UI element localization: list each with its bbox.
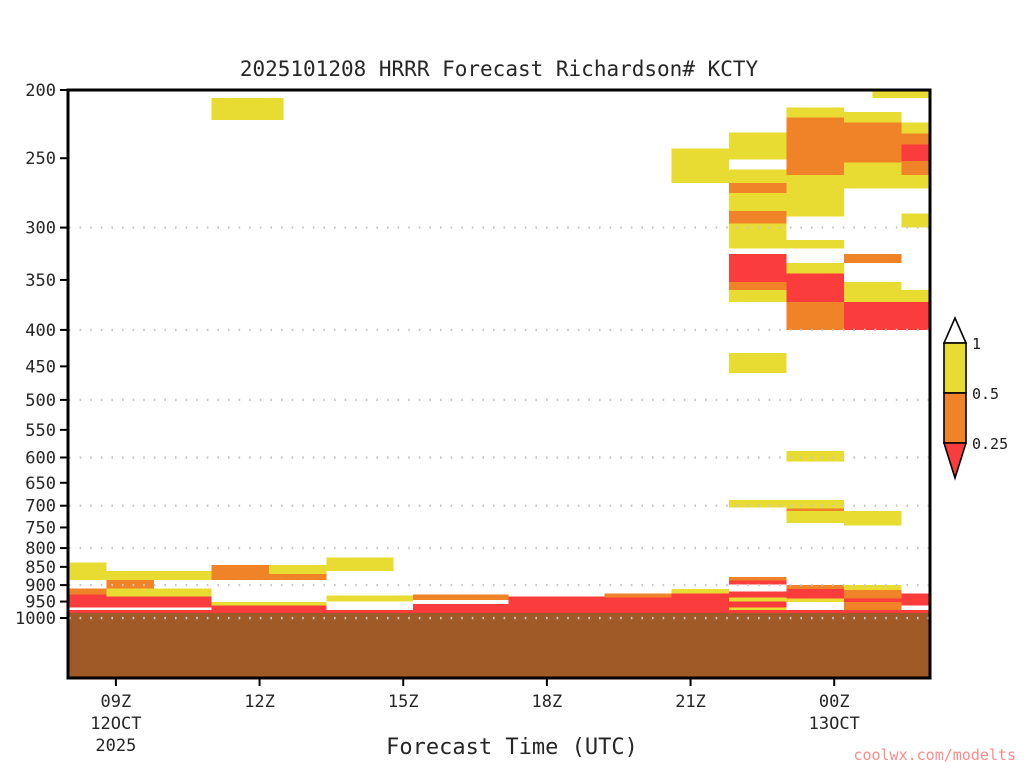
heatmap-cell bbox=[671, 589, 728, 593]
heatmap-cell bbox=[671, 598, 728, 610]
heatmap-cell bbox=[729, 240, 844, 248]
y-axis-tick-label: 500 bbox=[25, 391, 56, 411]
y-axis-tick-label: 1000 bbox=[15, 609, 56, 629]
heatmap-cell bbox=[729, 592, 786, 598]
heatmap-cell bbox=[786, 117, 843, 175]
heatmap-cell bbox=[844, 162, 901, 188]
heatmap-cell bbox=[604, 593, 671, 597]
heatmap-cell bbox=[786, 175, 843, 186]
x-axis-tick-label: 18Z bbox=[532, 692, 563, 712]
y-axis-tick-label: 450 bbox=[25, 357, 56, 377]
heatmap-cell bbox=[786, 108, 843, 118]
y-axis-tick-label: 400 bbox=[25, 321, 56, 341]
heatmap-cell bbox=[729, 254, 786, 282]
y-axis-tick-label: 650 bbox=[25, 474, 56, 494]
colorbar-tick-label: 0.25 bbox=[972, 435, 1008, 453]
colorbar-segment-orange[interactable] bbox=[944, 393, 966, 443]
y-axis-tick-label: 800 bbox=[25, 539, 56, 559]
ground-layer bbox=[68, 613, 930, 678]
colorbar-tick-label: 0.5 bbox=[972, 385, 999, 403]
x-axis-tick-label: 00Z bbox=[819, 692, 850, 712]
heatmap-cell bbox=[327, 596, 413, 602]
heatmap-cell bbox=[786, 589, 843, 598]
heatmap-cell bbox=[413, 600, 509, 604]
heatmap-cell bbox=[729, 577, 786, 581]
ground-terrain bbox=[68, 613, 930, 678]
heatmap-cell bbox=[729, 223, 786, 240]
heatmap-cell bbox=[786, 263, 843, 273]
heatmap-cell bbox=[327, 602, 413, 610]
x-axis-tick-label: 15Z bbox=[388, 692, 419, 712]
colorbar-tick-label: 1 bbox=[972, 335, 981, 353]
heatmap-cell bbox=[786, 274, 843, 302]
heatmap-cell bbox=[729, 602, 786, 608]
heatmap-cell bbox=[106, 597, 211, 608]
heatmap-cell bbox=[786, 598, 843, 602]
y-axis-tick-label: 300 bbox=[25, 219, 56, 239]
x-axis-label: Forecast Time (UTC) bbox=[386, 735, 638, 760]
heatmap-cell bbox=[509, 597, 605, 602]
heatmap-cell bbox=[786, 186, 843, 217]
heatmap-cell bbox=[844, 254, 901, 263]
chart-svg-canvas: 2002503003504004505005506006507007508008… bbox=[0, 0, 1024, 768]
heatmap-cell bbox=[106, 588, 211, 596]
heatmap-cell bbox=[671, 175, 728, 183]
heatmap-cell bbox=[786, 302, 843, 330]
x-axis-date-label: 12OCT bbox=[90, 714, 141, 734]
forecast-meteogram-chart: 2002503003504004505005506006507007508008… bbox=[0, 0, 1024, 768]
heatmap-cell bbox=[671, 149, 728, 175]
heatmap-cell bbox=[844, 511, 901, 525]
heatmap-cell bbox=[729, 282, 786, 290]
y-axis-tick-label: 350 bbox=[25, 271, 56, 291]
heatmap-cell bbox=[729, 193, 786, 211]
heatmap-cell bbox=[844, 590, 901, 598]
heatmap-cell bbox=[844, 598, 901, 602]
heatmap-cell bbox=[844, 585, 901, 590]
heatmap-cell bbox=[212, 602, 327, 605]
heatmap-cell bbox=[786, 585, 843, 589]
y-axis-tick-label: 600 bbox=[25, 449, 56, 469]
watermark: coolwx.com/modelts bbox=[853, 746, 1016, 764]
y-axis-tick-label: 750 bbox=[25, 518, 56, 538]
heatmap-cell bbox=[786, 451, 843, 462]
heatmap-cell bbox=[729, 581, 786, 585]
heatmap-cell bbox=[413, 604, 509, 610]
heatmap-cell bbox=[68, 594, 106, 607]
x-axis-tick-label: 09Z bbox=[101, 692, 132, 712]
y-axis-tick-label: 700 bbox=[25, 497, 56, 517]
heatmap-cell bbox=[729, 183, 786, 193]
heatmap-cell bbox=[844, 282, 901, 290]
heatmap-cell bbox=[729, 169, 786, 183]
heatmap-cell bbox=[269, 574, 326, 580]
x-axis-tick-label: 12Z bbox=[244, 692, 275, 712]
heatmap-cell bbox=[671, 593, 728, 598]
heatmap-cell bbox=[604, 598, 671, 610]
heatmap-cell bbox=[786, 602, 843, 608]
x-axis-date-label: 13OCT bbox=[809, 714, 860, 734]
heatmap-cell bbox=[786, 500, 843, 508]
heatmap-cell bbox=[729, 132, 786, 159]
heatmap-cell bbox=[786, 511, 843, 523]
heatmap-cell bbox=[327, 557, 394, 571]
heatmap-cell bbox=[729, 588, 786, 591]
heatmap-cell bbox=[786, 508, 843, 511]
heatmap-cell bbox=[212, 565, 269, 580]
y-axis-tick-label: 200 bbox=[25, 81, 56, 101]
heatmap-cell bbox=[106, 580, 154, 588]
heatmap-cell bbox=[68, 610, 1024, 613]
heatmap-cell bbox=[729, 211, 786, 223]
heatmap-cell bbox=[413, 594, 509, 600]
heatmap-cell bbox=[106, 571, 154, 580]
x-axis-year-label: 2025 bbox=[95, 736, 136, 756]
heatmap-cell bbox=[844, 602, 901, 610]
y-axis-tick-label: 850 bbox=[25, 558, 56, 578]
heatmap-cell bbox=[269, 565, 326, 574]
heatmap-cell bbox=[729, 598, 786, 602]
heatmap-cell bbox=[212, 606, 327, 610]
page-title: 2025101208 HRRR Forecast Richardson# KCT… bbox=[240, 57, 759, 81]
heatmap-cell bbox=[68, 588, 106, 594]
heatmap-cell bbox=[509, 602, 605, 610]
y-axis-tick-label: 250 bbox=[25, 149, 56, 169]
heatmap-cell bbox=[729, 160, 786, 170]
heatmap-cell bbox=[729, 290, 786, 302]
heatmap-cell bbox=[154, 571, 211, 580]
heatmap-cell bbox=[844, 112, 901, 123]
heatmap-cell bbox=[68, 562, 106, 580]
colorbar-segment-yellow[interactable] bbox=[944, 343, 966, 393]
x-axis-tick-label: 21Z bbox=[675, 692, 706, 712]
heatmap-cell bbox=[844, 123, 901, 163]
heatmap-cell bbox=[786, 582, 843, 585]
heatmap-cell bbox=[212, 98, 284, 120]
y-axis-tick-label: 550 bbox=[25, 421, 56, 441]
heatmap-cell bbox=[729, 353, 786, 373]
